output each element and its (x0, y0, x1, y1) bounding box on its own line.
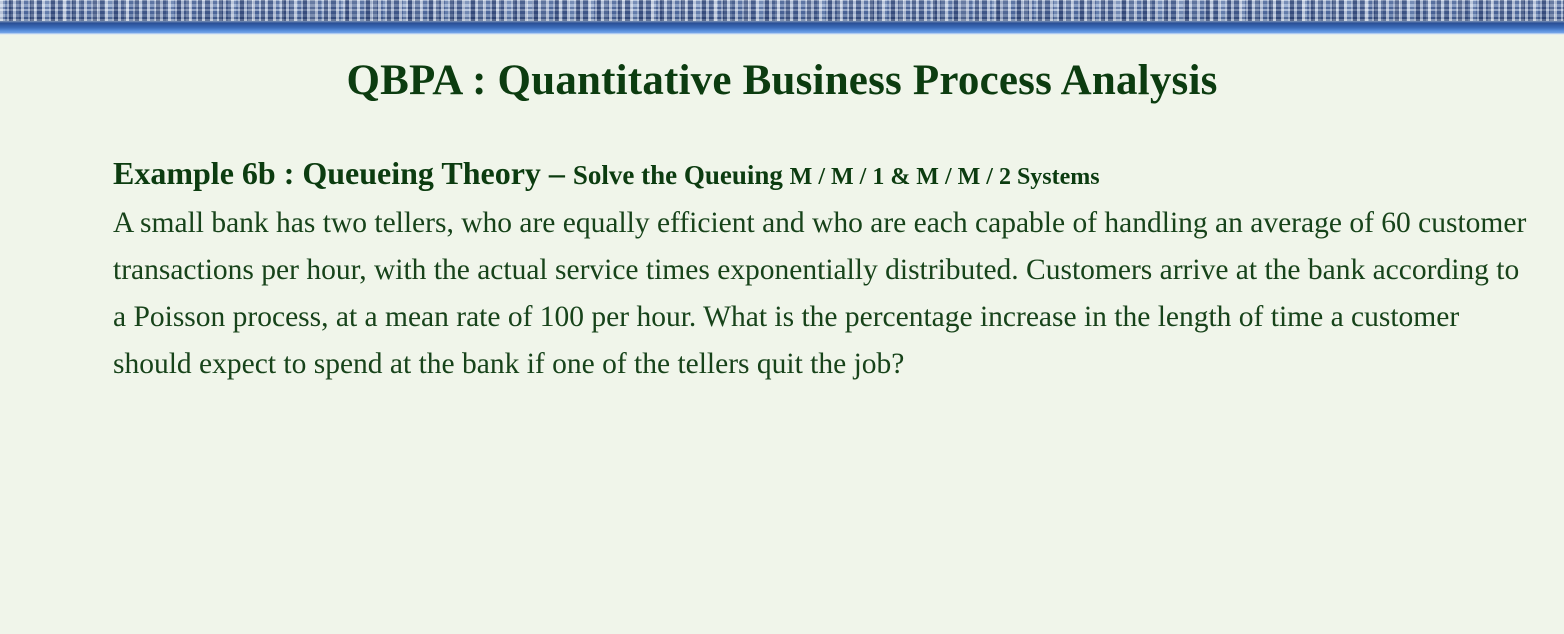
slide-canvas: QBPA : Quantitative Business Process Ana… (0, 0, 1564, 634)
banner-bottom-edge (0, 33, 1564, 35)
problem-statement-text: A small bank has two tellers, who are eq… (113, 200, 1533, 388)
subtitle-heading-mid: Solve the Queuing (573, 160, 790, 190)
slide-body: Example 6b : Queueing Theory – Solve the… (113, 156, 1523, 387)
slide-subtitle: Example 6b : Queueing Theory – Solve the… (113, 156, 1523, 192)
banner-gradient-bar (0, 21, 1564, 33)
subtitle-heading-main: Example 6b : Queueing Theory – (113, 155, 573, 191)
subtitle-heading-small: M / M / 1 & M / M / 2 Systems (790, 164, 1100, 190)
slide-title: QBPA : Quantitative Business Process Ana… (0, 58, 1564, 104)
banner-texture-strip (0, 0, 1564, 21)
slide-top-banner (0, 0, 1564, 34)
